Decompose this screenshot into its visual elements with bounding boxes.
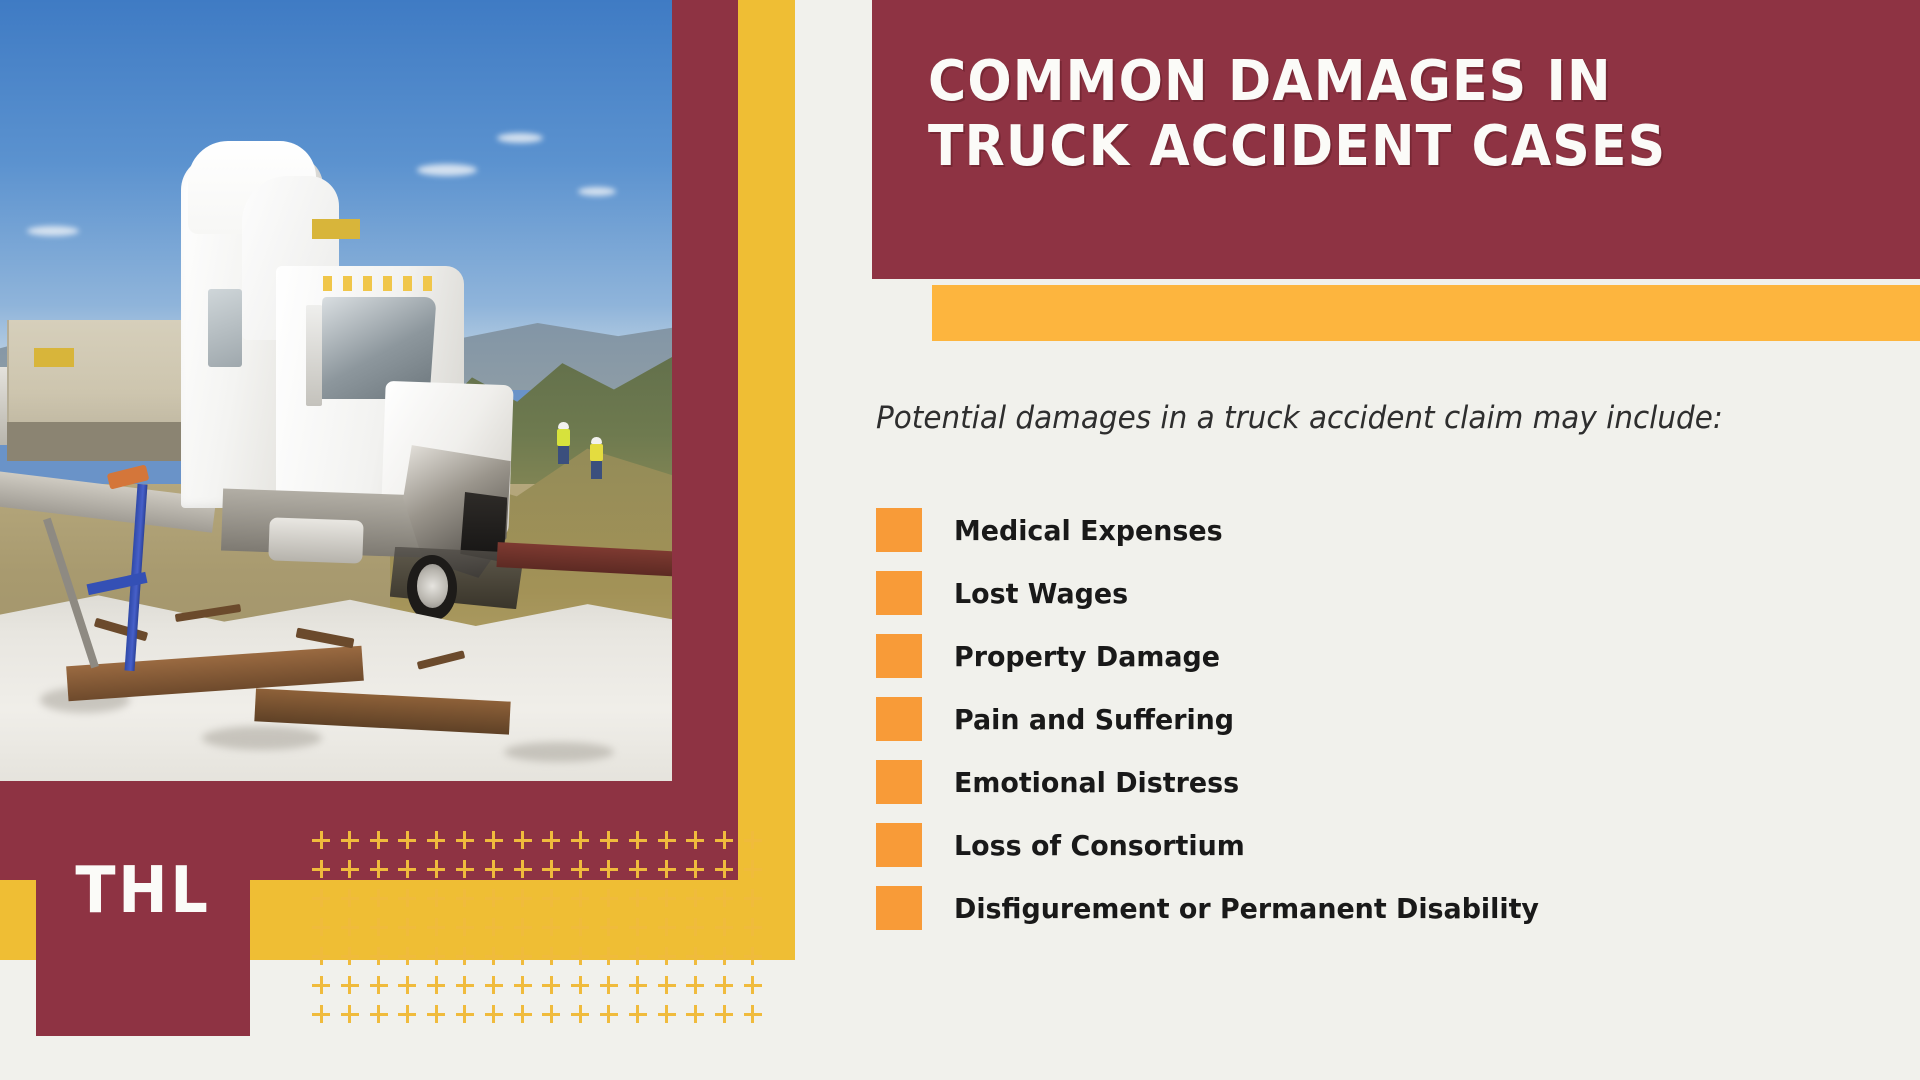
bullet-square-icon [876,697,922,741]
plus-icon [312,976,330,994]
truck-accident-photo [0,0,672,781]
bullet-square-icon [876,571,922,615]
plus-icon [370,947,388,965]
plus-icon [571,889,589,907]
list-item: Loss of Consortium [876,823,1876,867]
plus-icon [398,918,416,936]
list-item: Lost Wages [876,571,1876,615]
wheel-rim [417,564,448,608]
plus-icon [398,889,416,907]
plus-icon [715,918,733,936]
plus-icon [629,831,647,849]
plus-icon [398,860,416,878]
worker-figure [558,422,569,464]
sleeper-window [208,289,242,367]
list-item-label: Property Damage [954,640,1220,673]
plus-icon [427,918,445,936]
plus-icon [456,947,474,965]
list-item: Pain and Suffering [876,697,1876,741]
cab-marker-lights [323,276,437,290]
plus-icon [370,976,388,994]
plus-icon [312,947,330,965]
title-banner: COMMON DAMAGES INTRUCK ACCIDENT CASES [872,0,1920,279]
plus-icon [715,889,733,907]
plus-icon [686,918,704,936]
plus-icon [485,1005,503,1023]
plus-icon [744,1005,762,1023]
plus-icon [312,889,330,907]
plus-icon [514,976,532,994]
plus-icon [658,918,676,936]
accent-bar [932,285,1920,341]
plus-icon [715,860,733,878]
fuel-tank [268,518,364,564]
plus-icon [542,831,560,849]
bullet-square-icon [876,823,922,867]
plus-icon [312,860,330,878]
plus-icon [744,889,762,907]
plus-icon [485,860,503,878]
plus-icon [514,918,532,936]
worker-legs [591,461,602,479]
plus-icon [629,1005,647,1023]
plus-icon [686,889,704,907]
plus-icon [370,831,388,849]
thl-logo-text: THL [45,854,242,928]
plus-icon [514,860,532,878]
bullet-square-icon [876,508,922,552]
plus-icon [629,976,647,994]
plus-pattern-row [312,913,762,942]
list-item: Emotional Distress [876,760,1876,804]
hard-hat [591,437,602,444]
plus-icon [398,947,416,965]
plus-icon [341,889,359,907]
list-item-label: Disfigurement or Permanent Disability [954,892,1539,925]
plus-icon [658,889,676,907]
plus-icon [485,831,503,849]
bullet-square-icon [876,760,922,804]
plus-icon [456,976,474,994]
plus-icon [715,831,733,849]
plus-icon [370,860,388,878]
plus-icon [542,947,560,965]
plus-icon [571,1005,589,1023]
plus-icon [629,947,647,965]
plus-icon [312,831,330,849]
page-title-line-1: COMMON DAMAGES IN [928,49,1612,114]
plus-icon [571,831,589,849]
plus-icon [341,918,359,936]
plus-icon [571,976,589,994]
plus-icon [398,976,416,994]
plus-icon [658,831,676,849]
plus-icon [514,831,532,849]
plus-icon [715,976,733,994]
plus-icon [427,947,445,965]
plus-icon [600,860,618,878]
photo-scene [0,0,672,781]
plus-icon [629,918,647,936]
plus-icon [600,831,618,849]
infographic-canvas: COMMON DAMAGES INTRUCK ACCIDENT CASES Po… [0,0,1920,1080]
thl-logo: THL [36,822,250,1036]
plus-icon [341,860,359,878]
plus-icon [744,860,762,878]
plus-icon [744,947,762,965]
plus-icon [427,860,445,878]
side-mirror [306,305,322,407]
plus-icon [686,860,704,878]
plus-icon [370,1005,388,1023]
page-title: COMMON DAMAGES INTRUCK ACCIDENT CASES [928,50,1821,180]
plus-icon [312,1005,330,1023]
plus-icon [686,1005,704,1023]
list-item-label: Medical Expenses [954,514,1223,547]
list-item-label: Emotional Distress [954,766,1239,799]
bullet-square-icon [876,634,922,678]
plus-icon [398,1005,416,1023]
plus-icon [686,947,704,965]
plus-icon [514,889,532,907]
plus-icon [427,976,445,994]
worker-figure [591,437,602,479]
cloud [417,164,477,176]
plus-icon [542,976,560,994]
plus-icon [514,947,532,965]
plus-icon [715,1005,733,1023]
plus-icon [600,1005,618,1023]
plus-icon [744,831,762,849]
intro-text: Potential damages in a truck accident cl… [876,396,1731,440]
plus-icon [370,889,388,907]
plus-icon [341,947,359,965]
hard-hat [558,422,569,429]
plus-pattern-decoration [312,826,762,1030]
list-item-label: Loss of Consortium [954,829,1245,862]
list-item-label: Pain and Suffering [954,703,1234,736]
cloud [497,133,543,143]
plus-icon [658,1005,676,1023]
list-item-label: Lost Wages [954,577,1128,610]
plus-icon [485,947,503,965]
plus-icon [427,889,445,907]
list-item: Property Damage [876,634,1876,678]
plus-icon [600,947,618,965]
plus-icon [744,918,762,936]
plus-icon [341,1005,359,1023]
plus-pattern-row [312,855,762,884]
plus-icon [629,860,647,878]
plus-icon [658,976,676,994]
plus-icon [715,947,733,965]
plus-icon [542,860,560,878]
plus-icon [456,1005,474,1023]
plus-pattern-row [312,971,762,1000]
plus-pattern-row [312,942,762,971]
plus-pattern-row [312,1000,762,1029]
concrete-shadow [504,742,614,762]
worker-legs [558,446,569,464]
plus-icon [456,889,474,907]
plus-pattern-row [312,826,762,855]
plus-icon [456,918,474,936]
plus-icon [485,976,503,994]
page-title-line-2: TRUCK ACCIDENT CASES [928,114,1666,179]
plus-icon [600,976,618,994]
plus-icon [312,918,330,936]
list-item: Medical Expenses [876,508,1876,552]
plus-icon [514,1005,532,1023]
plus-icon [600,918,618,936]
plus-icon [427,1005,445,1023]
trailer-yellow-marking [34,348,74,367]
hi-vis-vest [557,429,570,446]
plus-icon [398,831,416,849]
damages-list: Medical Expenses Lost Wages Property Dam… [876,508,1876,949]
plus-icon [686,831,704,849]
plus-icon [629,889,647,907]
plus-icon [456,860,474,878]
plus-icon [542,918,560,936]
plus-icon [456,831,474,849]
cab-yellow-stripe [312,219,359,239]
plus-icon [658,947,676,965]
plus-icon [744,976,762,994]
list-item: Disfigurement or Permanent Disability [876,886,1876,930]
bullet-square-icon [876,886,922,930]
plus-icon [485,889,503,907]
plus-icon [427,831,445,849]
plus-icon [571,860,589,878]
plus-icon [571,947,589,965]
plus-icon [542,889,560,907]
plus-icon [485,918,503,936]
plus-icon [341,831,359,849]
plus-icon [370,918,388,936]
trailer-underside [7,422,209,461]
plus-icon [341,976,359,994]
plus-icon [571,918,589,936]
plus-icon [686,976,704,994]
plus-pattern-row [312,884,762,913]
hi-vis-vest [590,444,603,461]
plus-icon [658,860,676,878]
plus-icon [542,1005,560,1023]
plus-icon [600,889,618,907]
